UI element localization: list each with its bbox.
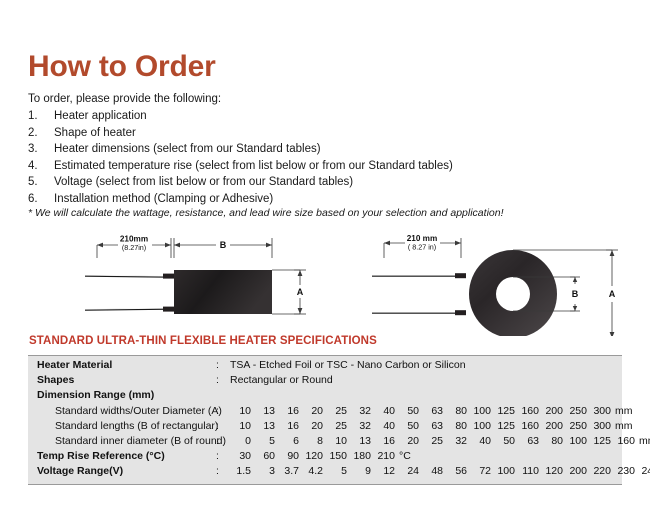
spec-value-unit: mm <box>615 405 633 417</box>
spec-value-number: 32 <box>350 405 371 417</box>
list-item-label: Heater application <box>54 110 628 122</box>
heater-diagram-svg: 210mm (8.27in) B A <box>0 228 650 336</box>
row-colon: : <box>216 450 230 462</box>
row-colon: : <box>216 374 230 386</box>
spec-value-number: 100 <box>494 465 515 477</box>
spec-value-number: 240 <box>638 465 650 477</box>
list-item-number: 4. <box>28 160 54 172</box>
spec-value-number: 12 <box>374 465 395 477</box>
table-row: Voltage Range(V) : 1.533.74.259122448567… <box>28 465 622 480</box>
spec-value-number: 80 <box>542 435 563 447</box>
list-item-label: Shape of heater <box>54 127 628 139</box>
spec-value-number: 50 <box>398 405 419 417</box>
spec-value-number: 6 <box>278 435 299 447</box>
spec-value-number: 125 <box>590 435 611 447</box>
row-label: Standard lengths (B of rectangular) <box>28 420 216 432</box>
list-item-number: 2. <box>28 127 54 139</box>
spec-value-unit: mm <box>615 420 633 432</box>
row-label: Standard inner diameter (B of round) <box>28 435 216 447</box>
spec-table: Heater Material : TSA - Etched Foil or T… <box>28 355 622 485</box>
spec-value-number: 0 <box>230 435 251 447</box>
spec-value-number: 32 <box>446 435 467 447</box>
arrow-right-icon <box>165 243 171 248</box>
spec-value-number: 250 <box>566 420 587 432</box>
spec-value-number: 90 <box>278 450 299 462</box>
spec-value-number: 120 <box>542 465 563 477</box>
spec-value-number: 16 <box>278 405 299 417</box>
spec-value-number: 100 <box>470 420 491 432</box>
spec-value-number: 220 <box>590 465 611 477</box>
row-value: 056810131620253240506380100125160mm(must… <box>230 435 650 447</box>
list-item-label: Heater dimensions (select from our Stand… <box>54 143 628 155</box>
spec-section-heading: STANDARD ULTRA-THIN FLEXIBLE HEATER SPEC… <box>29 335 377 347</box>
spec-value-number: 120 <box>302 450 323 462</box>
spec-value-number: 200 <box>542 420 563 432</box>
lead-wires <box>85 274 174 312</box>
list-item: 5. Voltage (select from list below or fr… <box>28 176 628 193</box>
row-value: TSA - Etched Foil or TSC - Nano Carbon o… <box>230 359 622 371</box>
spec-value-number: 24 <box>398 465 419 477</box>
list-item-number: 5. <box>28 176 54 188</box>
spec-value-number: 20 <box>302 405 323 417</box>
table-row: Heater Material : TSA - Etched Foil or T… <box>28 359 622 374</box>
list-item: 2. Shape of heater <box>28 127 628 144</box>
spec-value-number: 110 <box>518 465 539 477</box>
list-item: 3. Heater dimensions (select from our St… <box>28 143 628 160</box>
row-value: 10131620253240506380100125160200250300mm <box>230 405 633 417</box>
list-item-number: 3. <box>28 143 54 155</box>
row-value: Rectangular or Round <box>230 374 622 386</box>
spec-value-number: 16 <box>374 435 395 447</box>
row-colon: : <box>216 435 230 447</box>
spec-value-number: 200 <box>542 405 563 417</box>
arrow-left-icon <box>97 243 103 248</box>
row-colon: : <box>216 405 230 417</box>
spec-value-unit: °C <box>399 450 411 462</box>
spec-value-number: 48 <box>422 465 443 477</box>
spec-value-number: 40 <box>374 420 395 432</box>
spec-value-number: 125 <box>494 420 515 432</box>
spec-value-number: 100 <box>566 435 587 447</box>
spec-value-number: 50 <box>494 435 515 447</box>
row-colon: : <box>216 359 230 371</box>
table-row: Temp Rise Reference (°C) : 3060901201501… <box>28 450 622 465</box>
row-value: 1.533.74.2591224485672100110120200220230… <box>230 465 650 477</box>
round-heater-inner-hole <box>496 277 530 311</box>
spec-value-number: 10 <box>230 420 251 432</box>
spec-value-number: 8 <box>302 435 323 447</box>
table-row: Dimension Range (mm) <box>28 389 622 404</box>
spec-value-number: 10 <box>326 435 347 447</box>
row-colon: : <box>216 420 230 432</box>
round-inner-label: B <box>572 289 579 299</box>
spec-value-number: 80 <box>446 420 467 432</box>
spec-value-number: 5 <box>326 465 347 477</box>
spec-value-number: 50 <box>398 420 419 432</box>
spec-value-number: 160 <box>518 405 539 417</box>
row-value: 306090120150180210°C <box>230 450 622 462</box>
round-heater-diagram: 210 mm ( 8.27 in) B A <box>372 234 618 336</box>
spec-value-number: 150 <box>326 450 347 462</box>
intro-text: To order, please provide the following: <box>28 93 221 105</box>
list-item-label: Installation method (Clamping or Adhesiv… <box>54 193 628 205</box>
round-lead-length-in: ( 8.27 in) <box>408 243 436 252</box>
spec-value-number: 125 <box>494 405 515 417</box>
list-item-number: 1. <box>28 110 54 122</box>
spec-value-number: 13 <box>254 420 275 432</box>
spec-value-number: 3.7 <box>278 465 299 477</box>
table-row: Standard widths/Outer Diameter (A) : 101… <box>28 405 622 420</box>
spec-value-number: 13 <box>254 405 275 417</box>
list-item: 1. Heater application <box>28 110 628 127</box>
spec-value-number: 25 <box>326 405 347 417</box>
spec-value-number: 250 <box>566 405 587 417</box>
order-steps-list: 1. Heater application 2. Shape of heater… <box>28 110 628 209</box>
rect-height-label: A <box>297 287 304 297</box>
spec-value-number: 56 <box>446 465 467 477</box>
spec-value-number: 200 <box>566 465 587 477</box>
spec-value-number: 300 <box>590 420 611 432</box>
spec-value-number: 300 <box>590 405 611 417</box>
spec-value-number: 63 <box>422 420 443 432</box>
spec-value-number: 100 <box>470 405 491 417</box>
spec-value-number: 60 <box>254 450 275 462</box>
rectangular-heater-body <box>174 270 272 314</box>
spec-value-number: 5 <box>254 435 275 447</box>
rect-width-label: B <box>220 240 227 250</box>
list-item-label: Voltage (select from list below or from … <box>54 176 628 188</box>
spec-value-number: 180 <box>350 450 371 462</box>
how-to-order-page: How to Order To order, please provide th… <box>0 0 650 523</box>
row-label: Shapes <box>28 374 216 386</box>
spec-value-number: 160 <box>614 435 635 447</box>
spec-value-number: 25 <box>422 435 443 447</box>
spec-value-number: 230 <box>614 465 635 477</box>
spec-value-number: 13 <box>350 435 371 447</box>
heater-diagrams: 210mm (8.27in) B A <box>0 228 650 336</box>
spec-value-number: 30 <box>230 450 251 462</box>
spec-value-number: 25 <box>326 420 347 432</box>
spec-value-number: 160 <box>518 420 539 432</box>
spec-value-number: 20 <box>302 420 323 432</box>
spec-value-number: 9 <box>350 465 371 477</box>
spec-value-number: 40 <box>470 435 491 447</box>
table-row: Standard inner diameter (B of round) : 0… <box>28 435 622 450</box>
spec-value-number: 32 <box>350 420 371 432</box>
rect-lead-length-in: (8.27in) <box>122 243 146 252</box>
list-item-label: Estimated temperature rise (select from … <box>54 160 628 172</box>
row-label: Heater Material <box>28 359 216 371</box>
row-colon: : <box>216 465 230 477</box>
calculation-note: * We will calculate the wattage, resista… <box>28 207 504 219</box>
list-item-number: 6. <box>28 193 54 205</box>
spec-value-number: 210 <box>374 450 395 462</box>
row-label: Voltage Range(V) <box>28 465 216 477</box>
spec-value-number: 1.5 <box>230 465 251 477</box>
spec-value-number: 72 <box>470 465 491 477</box>
spec-value-number: 4.2 <box>302 465 323 477</box>
table-row: Shapes : Rectangular or Round <box>28 374 622 389</box>
list-item: 4. Estimated temperature rise (select fr… <box>28 160 628 177</box>
row-value: 10131620253240506380100125160200250300mm <box>230 420 633 432</box>
spec-value-number: 80 <box>446 405 467 417</box>
row-label: Standard widths/Outer Diameter (A) <box>28 405 216 417</box>
row-label: Temp Rise Reference (°C) <box>28 450 216 462</box>
round-outer-label: A <box>609 289 616 299</box>
table-row: Standard lengths (B of rectangular) : 10… <box>28 420 622 435</box>
spec-value-number: 63 <box>422 405 443 417</box>
row-label: Dimension Range (mm) <box>28 389 216 401</box>
spec-value-number: 3 <box>254 465 275 477</box>
spec-value-number: 20 <box>398 435 419 447</box>
page-title: How to Order <box>28 52 216 82</box>
spec-value-unit: mm <box>639 435 650 447</box>
rectangular-heater-diagram: 210mm (8.27in) B A <box>85 235 306 315</box>
spec-value-number: 40 <box>374 405 395 417</box>
spec-value-number: 63 <box>518 435 539 447</box>
spec-value-number: 16 <box>278 420 299 432</box>
spec-value-number: 10 <box>230 405 251 417</box>
lead-wires-round <box>372 273 466 315</box>
